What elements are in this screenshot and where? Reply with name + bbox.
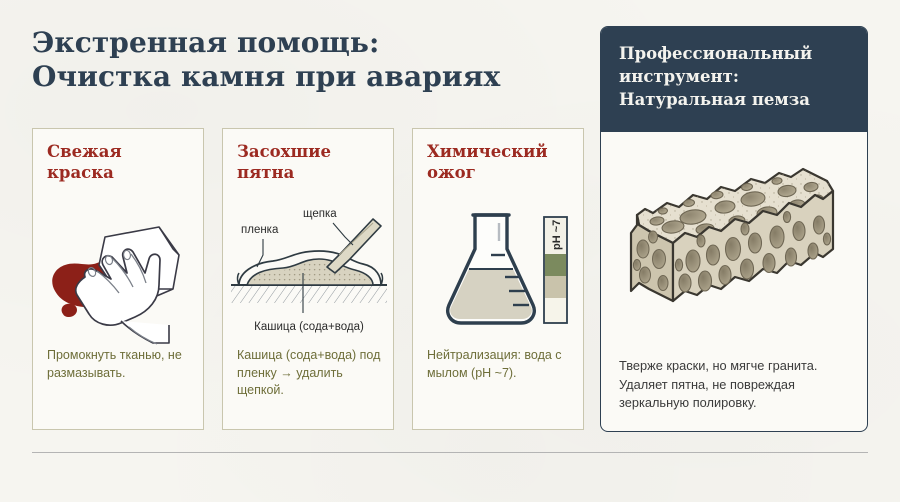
pumice-stone-icon: [601, 137, 867, 347]
card-title: Химический ожог: [427, 141, 573, 183]
card-fresh-paint[interactable]: Свежая краска: [32, 128, 204, 430]
label-paste: Кашица (сода+вода): [254, 321, 364, 333]
panel-caption: Тверже краски, но мягче гранита. Удаляет…: [619, 357, 853, 413]
card-title: Свежая краска: [47, 141, 193, 183]
panel-header-line-1: Профессиональный: [619, 42, 849, 65]
page-title-line-1: Экстренная помощь:: [32, 26, 379, 59]
page-title: Экстренная помощь: Очистка камня при ава…: [32, 26, 572, 94]
card-dried-stains[interactable]: Засохшие пятна: [222, 128, 394, 430]
page-title-line-2: Очистка камня при авариях: [32, 60, 572, 94]
ph-strip: pH ~7: [544, 217, 567, 323]
card-caption: Кашица (сода+вода) под пленку → удалить …: [237, 347, 383, 400]
card-caption: Промокнуть тканью, не размазывать.: [47, 347, 193, 382]
card-caption: Нейтрализация: вода с мылом (pH ~7).: [427, 347, 573, 382]
label-film: пленка: [241, 224, 279, 236]
card-chemical-burn[interactable]: Химический ожог: [412, 128, 584, 430]
poultice-diagram-icon: пленка щепка Кашица (сода+вода): [223, 193, 393, 363]
infographic-root: Экстренная помощь: Очистка камня при ава…: [0, 0, 900, 502]
cards-row: Свежая краска: [32, 128, 588, 432]
panel-header-line-2: инструмент:: [619, 65, 849, 88]
flask-and-ph-strip-icon: pH ~7: [413, 193, 583, 363]
panel-header: Профессиональный инструмент: Натуральная…: [601, 27, 867, 132]
card-title: Засохшие пятна: [237, 141, 383, 183]
panel-header-line-3: Натуральная пемза: [619, 88, 849, 111]
hand-with-cloth-icon: [33, 193, 203, 363]
panel-professional-tool[interactable]: Профессиональный инструмент: Натуральная…: [600, 26, 868, 432]
footer-divider: [32, 452, 868, 453]
label-ph-strip: pH ~7: [551, 220, 563, 250]
label-chip: щепка: [303, 208, 337, 220]
